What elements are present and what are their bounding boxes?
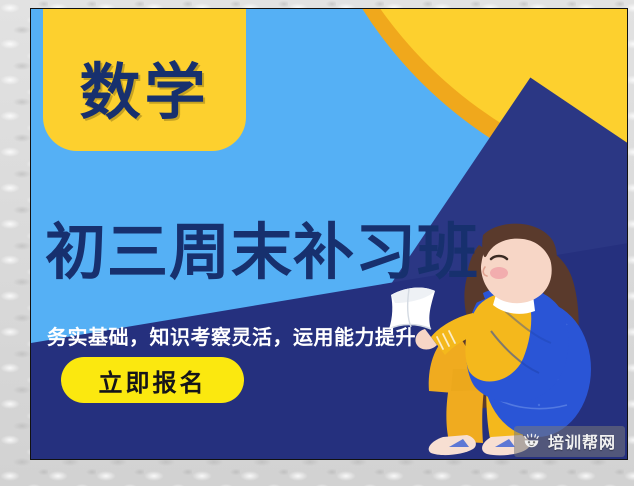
- subject-badge-label: 数学: [79, 62, 209, 151]
- signup-button-label: 立即报名: [99, 363, 207, 398]
- banner-canvas: 数学: [31, 9, 627, 459]
- signup-button[interactable]: 立即报名: [61, 357, 244, 403]
- subject-badge: 数学: [43, 9, 246, 151]
- sun-smiley-icon: [522, 432, 541, 451]
- watermark-brand-name: 培训帮网: [548, 429, 616, 453]
- poster-subtitle: 务实基础，知识考察灵活，运用能力提升: [47, 321, 416, 350]
- watermark-logo: 培训帮网: [514, 426, 625, 457]
- page-title: 初三周末补习班: [45, 222, 479, 283]
- course-promo-banner[interactable]: 数学: [30, 8, 628, 460]
